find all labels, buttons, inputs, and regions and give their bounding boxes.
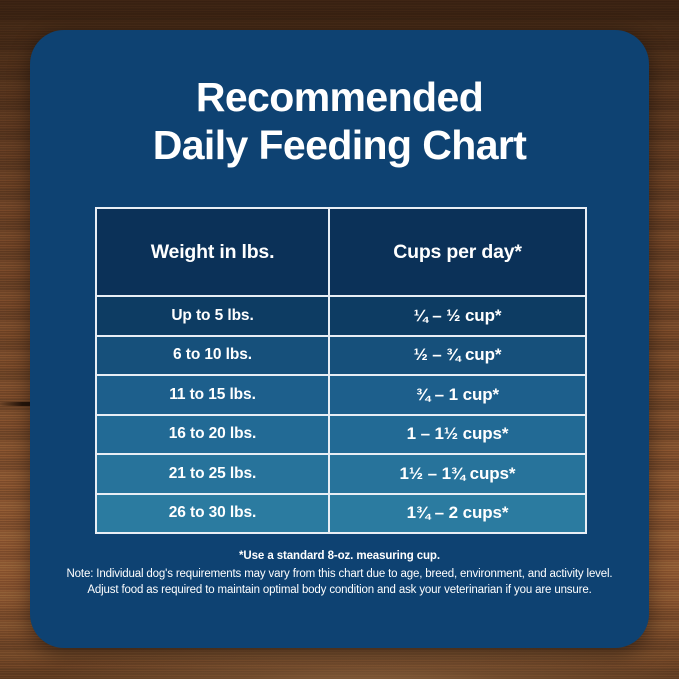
cell-weight: Up to 5 lbs. — [96, 296, 329, 336]
column-header-cups: Cups per day* — [329, 208, 586, 296]
table-row: 26 to 30 lbs.1¾ – 2 cups* — [96, 494, 586, 534]
table-row: 11 to 15 lbs.¾ – 1 cup* — [96, 375, 586, 415]
column-header-weight: Weight in lbs. — [96, 208, 329, 296]
cell-weight: 11 to 15 lbs. — [96, 375, 329, 415]
feeding-chart-table: Weight in lbs. Cups per day* Up to 5 lbs… — [95, 207, 587, 534]
cell-cups: ½ – ¾ cup* — [329, 336, 586, 376]
cell-weight: 26 to 30 lbs. — [96, 494, 329, 534]
cell-weight: 16 to 20 lbs. — [96, 415, 329, 455]
cell-cups: 1½ – 1¾ cups* — [329, 454, 586, 494]
table-row: Up to 5 lbs.¼ – ½ cup* — [96, 296, 586, 336]
footnote-note-line-2: Adjust food as required to maintain opti… — [48, 582, 631, 598]
table-body: Up to 5 lbs.¼ – ½ cup*6 to 10 lbs.½ – ¾ … — [96, 296, 586, 533]
cell-cups: 1 – 1½ cups* — [329, 415, 586, 455]
footnote-note-line-1: Note: Individual dog's requirements may … — [48, 566, 631, 582]
footnote-measuring-cup: *Use a standard 8-oz. measuring cup. — [48, 550, 631, 562]
cell-cups: ¼ – ½ cup* — [329, 296, 586, 336]
page-title-line-1: Recommended — [64, 74, 615, 122]
table-row: 6 to 10 lbs.½ – ¾ cup* — [96, 336, 586, 376]
cell-weight: 21 to 25 lbs. — [96, 454, 329, 494]
feeding-chart-card: Recommended Daily Feeding Chart Weight i… — [30, 30, 649, 648]
table-header-row: Weight in lbs. Cups per day* — [96, 208, 586, 296]
footnotes: *Use a standard 8-oz. measuring cup. Not… — [30, 550, 649, 599]
cell-cups: ¾ – 1 cup* — [329, 375, 586, 415]
table-row: 16 to 20 lbs.1 – 1½ cups* — [96, 415, 586, 455]
table-row: 21 to 25 lbs.1½ – 1¾ cups* — [96, 454, 586, 494]
page-title-line-2: Daily Feeding Chart — [64, 122, 615, 170]
cell-weight: 6 to 10 lbs. — [96, 336, 329, 376]
page-title: Recommended Daily Feeding Chart — [30, 74, 649, 169]
cell-cups: 1¾ – 2 cups* — [329, 494, 586, 534]
